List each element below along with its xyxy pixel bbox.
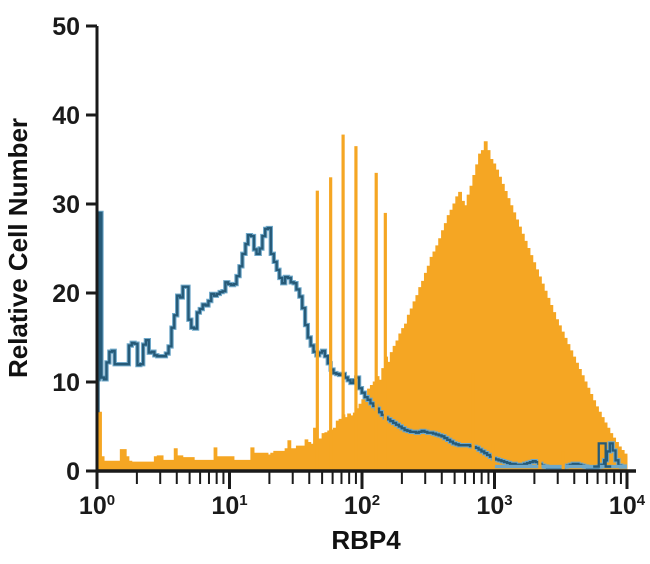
stained-spike xyxy=(562,451,565,471)
y-tick-label: 10 xyxy=(52,369,80,397)
stained-spike xyxy=(375,173,378,471)
flow-cytometry-figure: 01020304050 100101102103104 RBP4 Relativ… xyxy=(0,0,650,564)
stained-spike xyxy=(316,191,319,471)
stained-spike xyxy=(329,177,332,471)
y-tick-label: 0 xyxy=(66,458,80,486)
stained-spike xyxy=(472,373,475,471)
x-axis-title: RBP4 xyxy=(331,525,401,555)
stained-spike xyxy=(492,444,495,471)
stained-spike xyxy=(354,146,357,471)
stained-spike xyxy=(538,451,541,471)
y-axis-title: Relative Cell Number xyxy=(3,118,33,378)
y-tick-label: 40 xyxy=(52,102,80,130)
y-tick-label: 30 xyxy=(52,191,80,219)
y-tick-label: 50 xyxy=(52,13,80,41)
stained-spike xyxy=(98,412,101,471)
stained-spike xyxy=(384,213,387,471)
histogram-plot: 01020304050 100101102103104 RBP4 Relativ… xyxy=(0,0,650,564)
stained-spike xyxy=(342,135,345,471)
y-tick-label: 20 xyxy=(52,280,80,308)
